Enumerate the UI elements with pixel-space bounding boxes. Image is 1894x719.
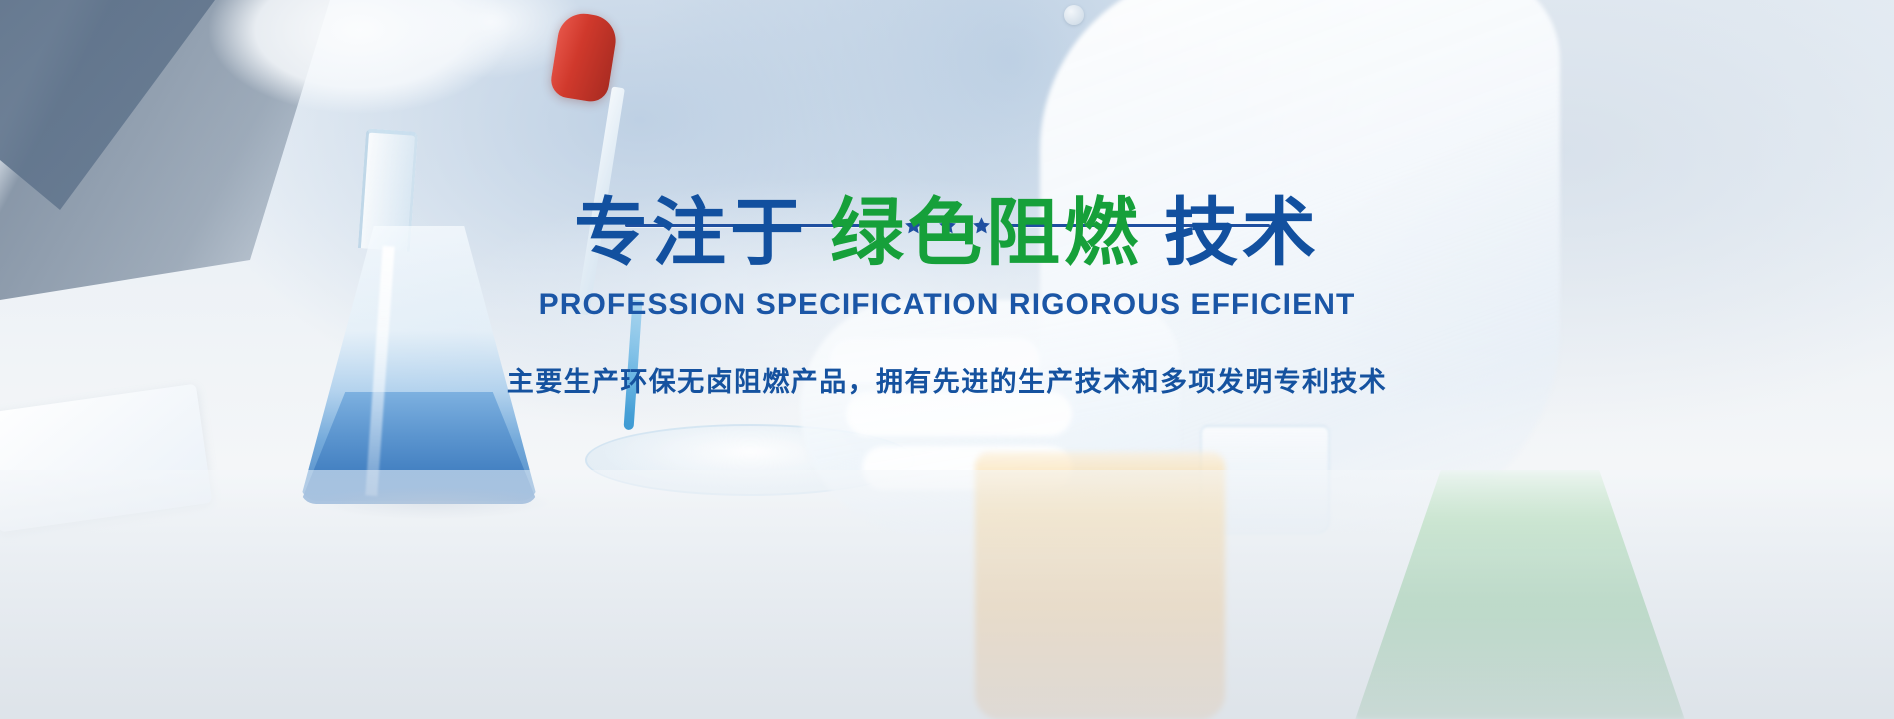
hero-banner: 专注于绿色阻燃技术 PROFESSION SPECIFICATION RIGOR…	[0, 0, 1894, 719]
banner-subtitle: PROFESSION SPECIFICATION RIGOROUS EFFICI…	[539, 288, 1356, 322]
headline-part-1: 专注于	[574, 190, 808, 276]
banner-content: 专注于绿色阻燃技术 PROFESSION SPECIFICATION RIGOR…	[0, 0, 1894, 719]
banner-tagline: 主要生产环保无卤阻燃产品，拥有先进的生产技术和多项发明专利技术	[507, 360, 1387, 399]
headline-part-3: 技术	[1164, 190, 1320, 276]
headline-part-2: 绿色阻燃	[830, 190, 1142, 276]
banner-headline: 专注于绿色阻燃技术	[574, 196, 1320, 270]
